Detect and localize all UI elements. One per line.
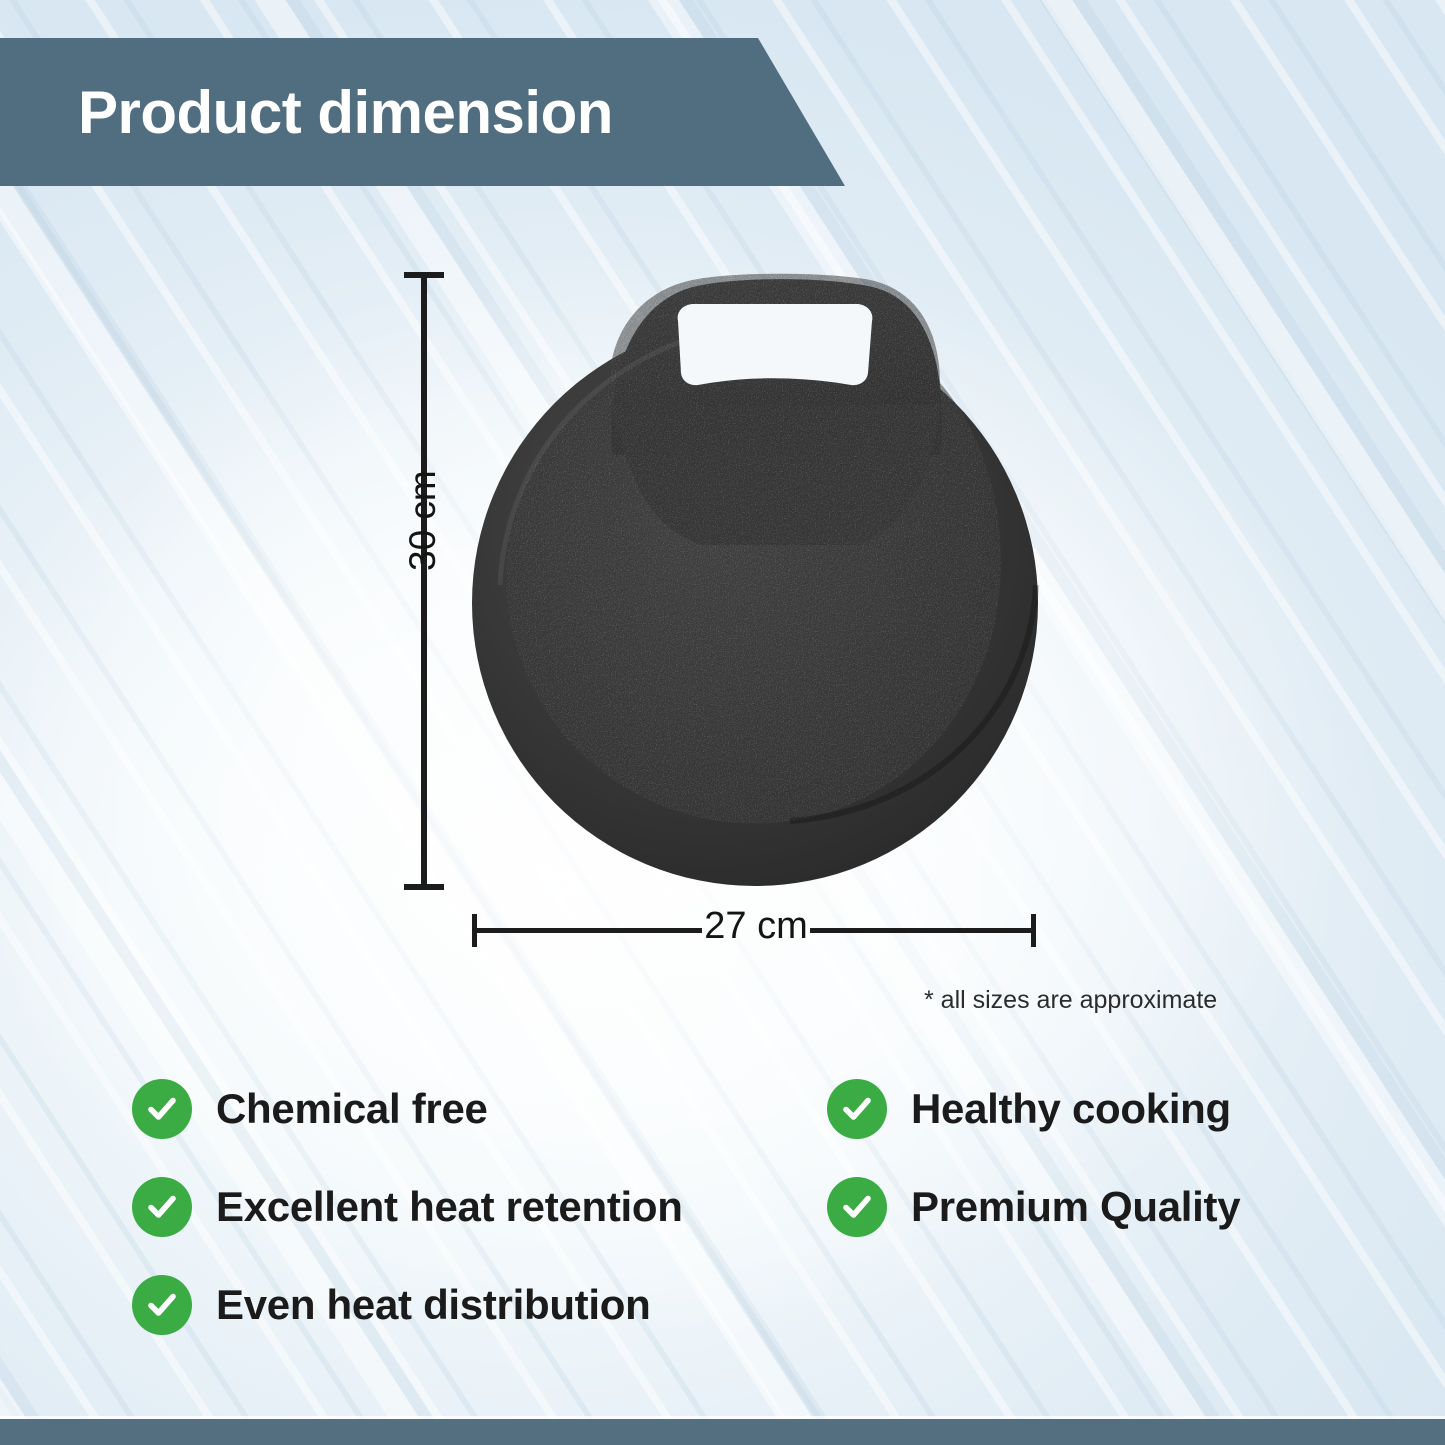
feature-label: Even heat distribution [216, 1281, 650, 1329]
feature-label: Chemical free [216, 1085, 488, 1133]
handle-cutout [678, 304, 873, 385]
check-icon [132, 1275, 192, 1335]
feature-label: Premium Quality [911, 1183, 1240, 1231]
check-icon [827, 1079, 887, 1139]
bottom-bar [0, 1419, 1445, 1445]
check-icon [132, 1079, 192, 1139]
feature-item: Excellent heat retention [132, 1158, 683, 1256]
feature-label: Excellent heat retention [216, 1183, 683, 1231]
size-disclaimer: * all sizes are approximate [924, 986, 1217, 1015]
feature-item: Healthy cooking [827, 1060, 1240, 1158]
feature-list: Chemical free Excellent heat retention E… [0, 1060, 1445, 1370]
page-title: Product dimension [78, 78, 613, 147]
feature-column-right: Healthy cooking Premium Quality [827, 1060, 1240, 1256]
feature-column-left: Chemical free Excellent heat retention E… [132, 1060, 683, 1354]
feature-label: Healthy cooking [911, 1085, 1231, 1133]
feature-item: Premium Quality [827, 1158, 1240, 1256]
height-dimension-label: 30 cm [402, 491, 444, 571]
feature-item: Even heat distribution [132, 1256, 683, 1354]
width-dimension-cap-left [472, 914, 477, 947]
height-dimension-cap-top [404, 272, 444, 278]
width-dimension-line-left [472, 928, 702, 933]
header-banner: Product dimension [0, 38, 845, 186]
width-dimension-line-right [810, 928, 1036, 933]
check-icon [827, 1177, 887, 1237]
product-image [440, 255, 1080, 915]
infographic-canvas: Product dimension [0, 0, 1445, 1445]
check-icon [132, 1177, 192, 1237]
feature-item: Chemical free [132, 1060, 683, 1158]
width-dimension-label: 27 cm [702, 905, 810, 948]
height-dimension-line [421, 272, 427, 890]
height-dimension-cap-bottom [404, 884, 444, 890]
width-dimension-cap-right [1031, 914, 1036, 947]
